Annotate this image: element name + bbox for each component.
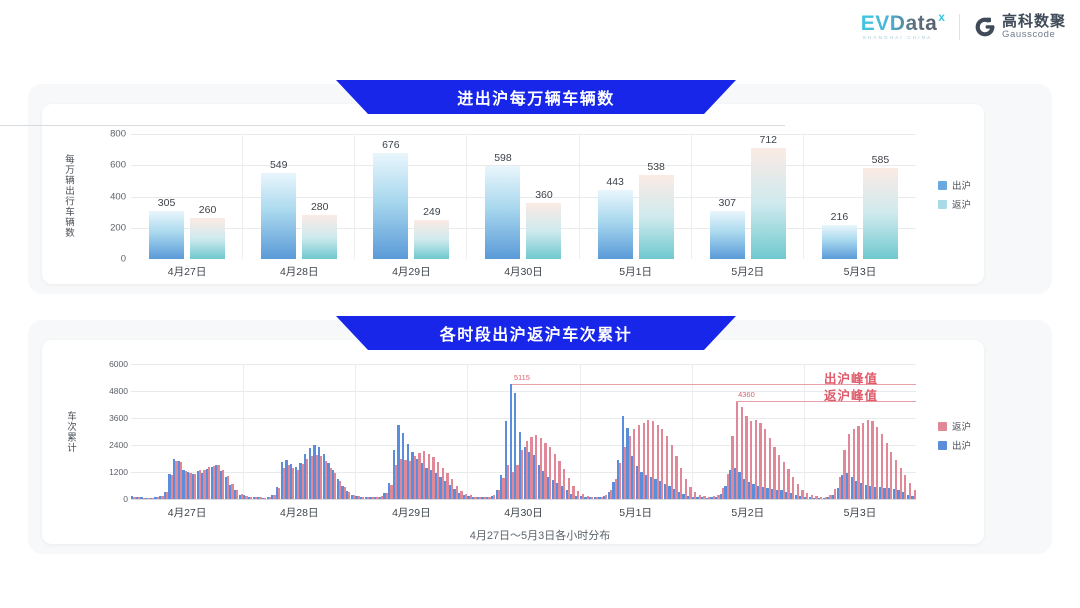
chart1-bar-fill <box>526 203 561 259</box>
chart1-bar-fill <box>190 218 225 259</box>
return-peak-value: 4360 <box>738 390 755 399</box>
chart1-y-tick: 200 <box>110 222 126 233</box>
chart1-bar-groups: 3052605492806762495983604435383077122165… <box>131 134 916 259</box>
chart1-x-tick: 4月27日 <box>131 264 243 279</box>
chart2-x-tick: 4月27日 <box>131 505 243 520</box>
gausscode-logo: 高科数聚 Gausscode <box>974 14 1066 40</box>
chart2-y-tick: 0 <box>123 494 128 504</box>
logo-divider <box>959 14 960 40</box>
evdata-logo-main: EVData x <box>861 13 945 34</box>
chart1-bar[interactable]: 538 <box>639 134 674 259</box>
chart1-bar[interactable]: 280 <box>302 134 337 259</box>
chart1-bar-group: 598360 <box>467 134 579 259</box>
chart1-y-axis-title: 每万辆出行车辆数 <box>61 154 75 238</box>
chart1-bar-value: 549 <box>261 159 296 171</box>
chart2-legend-item[interactable]: 返沪 <box>938 419 971 433</box>
chart1-bar-fill <box>373 153 408 259</box>
chart1-bar-value: 307 <box>710 197 745 209</box>
chart1-bar-fill <box>822 225 857 259</box>
logo-group: EVData x SHANGHAI CHINA 高科数聚 Gausscode <box>861 13 1066 41</box>
chart1-bar-fill <box>149 211 184 259</box>
chart1-bar-value: 712 <box>751 134 786 146</box>
chart2-x-tick: 4月29日 <box>355 505 467 520</box>
chart1-bar-value: 443 <box>598 176 633 188</box>
chart2-legend-item[interactable]: 出沪 <box>938 438 971 452</box>
chart1-bar-fill <box>598 190 633 259</box>
chart1-bar-value: 249 <box>414 206 449 218</box>
chart1-bar-fill <box>302 215 337 259</box>
chart2-bar-return <box>914 490 916 499</box>
chart1-bar[interactable]: 585 <box>863 134 898 259</box>
chart1-x-tick: 4月28日 <box>243 264 355 279</box>
chart1-x-tick: 5月1日 <box>580 264 692 279</box>
chart1-bar-fill <box>261 173 296 259</box>
chart1-bar[interactable]: 216 <box>822 134 857 259</box>
banner-title-chart-2: 各时段出沪返沪车次累计 <box>336 316 736 350</box>
chart1-bar-value: 598 <box>485 152 520 164</box>
chart2-x-tick: 5月1日 <box>580 505 692 520</box>
chart1-legend-label: 返沪 <box>952 197 971 211</box>
chart1-bar[interactable]: 549 <box>261 134 296 259</box>
chart1-y-tick: 400 <box>110 191 126 202</box>
chart2-caption: 4月27日～5月3日各小时分布 <box>0 527 1080 543</box>
chart1-bar-value: 538 <box>639 161 674 173</box>
chart1-bar[interactable]: 360 <box>526 134 561 259</box>
departure-peak-value: 5115 <box>514 373 530 382</box>
chart1-legend-swatch <box>938 181 947 190</box>
chart1-bar-fill <box>863 168 898 259</box>
evdata-logo-superscript: x <box>938 11 945 23</box>
chart1-bar-group: 305260 <box>131 134 243 259</box>
chart1-legend-item[interactable]: 出沪 <box>938 178 971 192</box>
chart1-bar-fill <box>639 175 674 259</box>
chart1-bar[interactable]: 305 <box>149 134 184 259</box>
chart1-bar-fill <box>710 211 745 259</box>
chart1-bar-value: 585 <box>863 154 898 166</box>
chart1-bar-fill <box>485 166 520 259</box>
chart1-bar-value: 280 <box>302 201 337 213</box>
evdata-logo: EVData x SHANGHAI CHINA <box>861 13 945 41</box>
chart1-y-tick: 0 <box>121 254 126 265</box>
chart1-bar[interactable]: 676 <box>373 134 408 259</box>
evdata-logo-text: EVData <box>861 13 938 34</box>
chart2-legend-label: 返沪 <box>952 419 971 433</box>
chart2-y-tick: 6000 <box>109 359 128 369</box>
chart2-x-tick: 5月2日 <box>692 505 804 520</box>
chart1-legend-item[interactable]: 返沪 <box>938 197 971 211</box>
chart1-bar-value: 260 <box>190 204 225 216</box>
gausscode-logo-en: Gausscode <box>1002 30 1066 40</box>
chart2-legend-label: 出沪 <box>952 438 971 452</box>
chart2-legend-swatch <box>938 441 947 450</box>
chart1-x-tick-labels: 4月27日4月28日4月29日4月30日5月1日5月2日5月3日 <box>131 264 916 279</box>
chart1-bar-value: 216 <box>822 211 857 223</box>
chart1-bar[interactable]: 249 <box>414 134 449 259</box>
chart2-y-tick: 2400 <box>109 440 128 450</box>
chart1-bar-group: 676249 <box>355 134 467 259</box>
chart1-bar-group: 549280 <box>243 134 355 259</box>
gausscode-logo-text: 高科数聚 Gausscode <box>1002 14 1066 40</box>
return-peak-label: 返沪峰值 <box>824 385 878 404</box>
chart1-legend-swatch <box>938 200 947 209</box>
chart2-x-tick: 4月28日 <box>243 505 355 520</box>
chart1-bar-group: 216585 <box>804 134 916 259</box>
chart1-bar[interactable]: 307 <box>710 134 745 259</box>
chart1-bar[interactable]: 598 <box>485 134 520 259</box>
chart2-y-tick: 3600 <box>109 413 128 423</box>
page-header: EVData x SHANGHAI CHINA 高科数聚 Gausscode <box>0 0 1080 62</box>
gausscode-mark-icon <box>974 16 996 38</box>
chart2-x-axis-line <box>131 499 916 500</box>
chart1-bar[interactable]: 443 <box>598 134 633 259</box>
chart2-x-tick: 4月30日 <box>467 505 579 520</box>
gausscode-logo-cn: 高科数聚 <box>1002 14 1066 30</box>
chart1-bar-fill <box>751 148 786 259</box>
chart1-x-tick: 5月3日 <box>804 264 916 279</box>
chart1-x-tick: 5月2日 <box>692 264 804 279</box>
chart1-y-tick: 800 <box>110 129 126 140</box>
chart1-bar-value: 305 <box>149 197 184 209</box>
chart2-legend-swatch <box>938 422 947 431</box>
chart2-x-tick: 5月3日 <box>804 505 916 520</box>
chart1-x-axis-line <box>0 125 785 126</box>
chart1-y-tick: 600 <box>110 160 126 171</box>
chart1-x-tick: 4月29日 <box>355 264 467 279</box>
chart1-legend: 出沪返沪 <box>938 178 971 216</box>
chart2-y-tick: 1200 <box>109 467 128 477</box>
chart1-bar[interactable]: 712 <box>751 134 786 259</box>
chart2-legend: 返沪出沪 <box>938 419 971 457</box>
chart2-y-tick: 4800 <box>109 386 128 396</box>
chart2-y-tick-labels: 012002400360048006000 <box>94 358 128 505</box>
chart1-legend-label: 出沪 <box>952 178 971 192</box>
chart1-bar-group: 443538 <box>580 134 692 259</box>
banner-title-chart-1: 进出沪每万辆车辆数 <box>336 80 736 114</box>
chart1-bar-fill <box>414 220 449 259</box>
chart1-x-tick: 4月30日 <box>467 264 579 279</box>
evdata-logo-subtitle: SHANGHAI CHINA <box>863 36 933 41</box>
chart1-y-tick-labels: 0200400600800 <box>96 128 126 259</box>
chart1-bar-value: 676 <box>373 139 408 151</box>
chart1-bar-group: 307712 <box>692 134 804 259</box>
chart2-x-tick-labels: 4月27日4月28日4月29日4月30日5月1日5月2日5月3日 <box>131 505 916 520</box>
chart1-bar-value: 360 <box>526 189 561 201</box>
chart2-y-axis-title: 车次累计 <box>63 411 77 453</box>
chart1-bar[interactable]: 260 <box>190 134 225 259</box>
